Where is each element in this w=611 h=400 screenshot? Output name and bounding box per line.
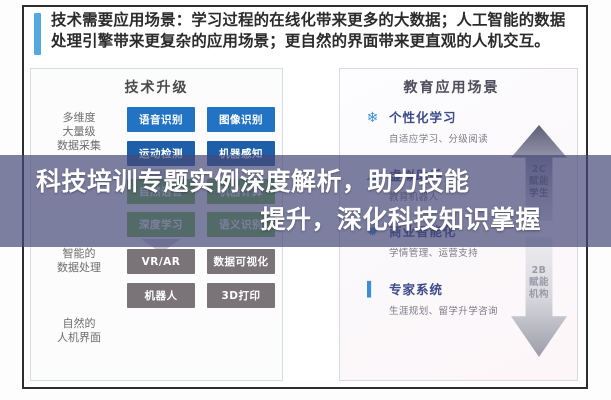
accent-bar-icon	[34, 13, 41, 55]
overlay-title-line-2: 提升，深化科技知识掌握	[260, 201, 541, 239]
stage-label-data-processing: 智能的 数据处理	[37, 247, 121, 275]
chart-icon: ▍	[364, 280, 381, 297]
header-callout: 技术需要应用场景：学习过程的在线化带来更多的大数据；人工智能的数据 处理引擎带来…	[26, 10, 582, 62]
scenario-personalized-learning[interactable]: ❄ 个性化学习 自适应学习、分级阅读	[364, 107, 554, 145]
overlay-title-banner: 科技培训专题实例深度解析，助力技能 提升，深化科技知识掌握	[0, 155, 611, 247]
arrow-down-line-3: 机构	[529, 289, 549, 301]
scenario-head: ▍ 专家系统	[364, 279, 554, 298]
scenario-head: ❄ 个性化学习	[364, 107, 554, 126]
stage-label-data-collection: 多维度 大量级 数据采集	[37, 111, 121, 153]
arrow-down-line-2: 赋能	[529, 277, 549, 289]
overlay-title-line-1: 科技培训专题实例深度解析，助力技能	[36, 163, 470, 201]
scenario-title: 专家系统	[389, 279, 443, 298]
left-panel-title: 技术升级	[31, 77, 282, 97]
header-text: 技术需要应用场景：学习过程的在线化带来更多的大数据；人工智能的数据 处理引擎带来…	[51, 10, 566, 52]
stage-label-human-interface: 自然的 人机界面	[37, 317, 121, 345]
chip-image-recognition[interactable]: 图像识别	[207, 107, 275, 132]
scenario-title: 个性化学习	[389, 107, 457, 126]
chip-robot[interactable]: 机器人	[127, 283, 195, 308]
right-panel-title: 教育应用场景	[326, 77, 577, 97]
chip-data-visualization[interactable]: 数据可视化	[207, 249, 275, 274]
arrow-down-line-1: 2B	[532, 265, 547, 277]
chip-3d-printing[interactable]: 3D打印	[207, 283, 275, 308]
screenshot-stage: 技术需要应用场景：学习过程的在线化带来更多的大数据；人工智能的数据 处理引擎带来…	[0, 0, 611, 400]
snowflake-icon: ❄	[364, 108, 381, 125]
scenario-expert-system[interactable]: ▍ 专家系统 生涯规划、留学升学咨询	[364, 279, 554, 317]
chip-speech-recognition[interactable]: 语音识别	[127, 107, 195, 132]
chip-vr-ar[interactable]: VR/AR	[127, 249, 195, 274]
